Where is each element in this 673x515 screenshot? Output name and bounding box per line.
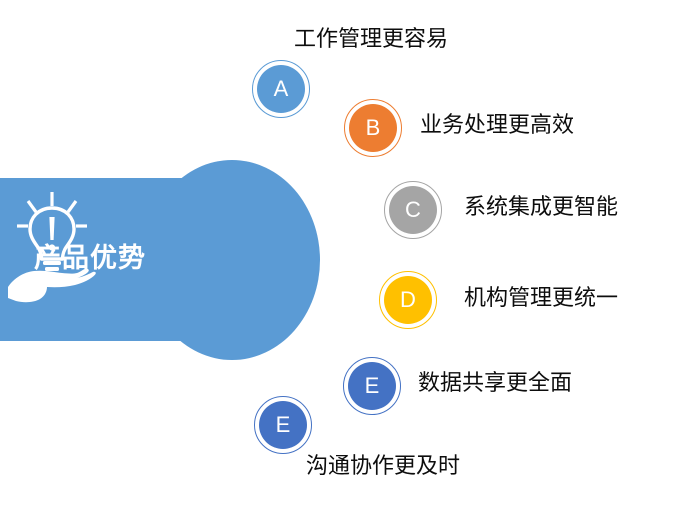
advantage-label-1: 工作管理更容易 [294,28,448,50]
advantage-badge-e-6[interactable]: E [254,396,312,454]
advantage-badge-d-4[interactable]: D [379,271,437,329]
badge-letter: A [274,78,289,100]
badge-letter: E [276,414,291,436]
badge-letter: D [400,289,416,311]
advantage-label-3: 系统集成更智能 [464,196,618,218]
advantage-badge-e-5[interactable]: E [343,357,401,415]
badge-letter: E [365,375,380,397]
advantage-label-2: 业务处理更高效 [420,114,574,136]
banner-title: 产品优势 [34,236,214,275]
slide-canvas: 产品优势 A工作管理更容易B业务处理更高效C系统集成更智能D机构管理更统一E数据… [0,0,673,515]
advantage-badge-a-1[interactable]: A [252,60,310,118]
advantage-badge-c-3[interactable]: C [384,181,442,239]
advantage-badge-b-2[interactable]: B [344,99,402,157]
advantage-label-4: 机构管理更统一 [464,287,618,309]
badge-letter: C [405,199,421,221]
advantage-label-5: 数据共享更全面 [418,372,572,394]
badge-letter: B [366,117,381,139]
advantage-label-6: 沟通协作更及时 [306,455,460,477]
